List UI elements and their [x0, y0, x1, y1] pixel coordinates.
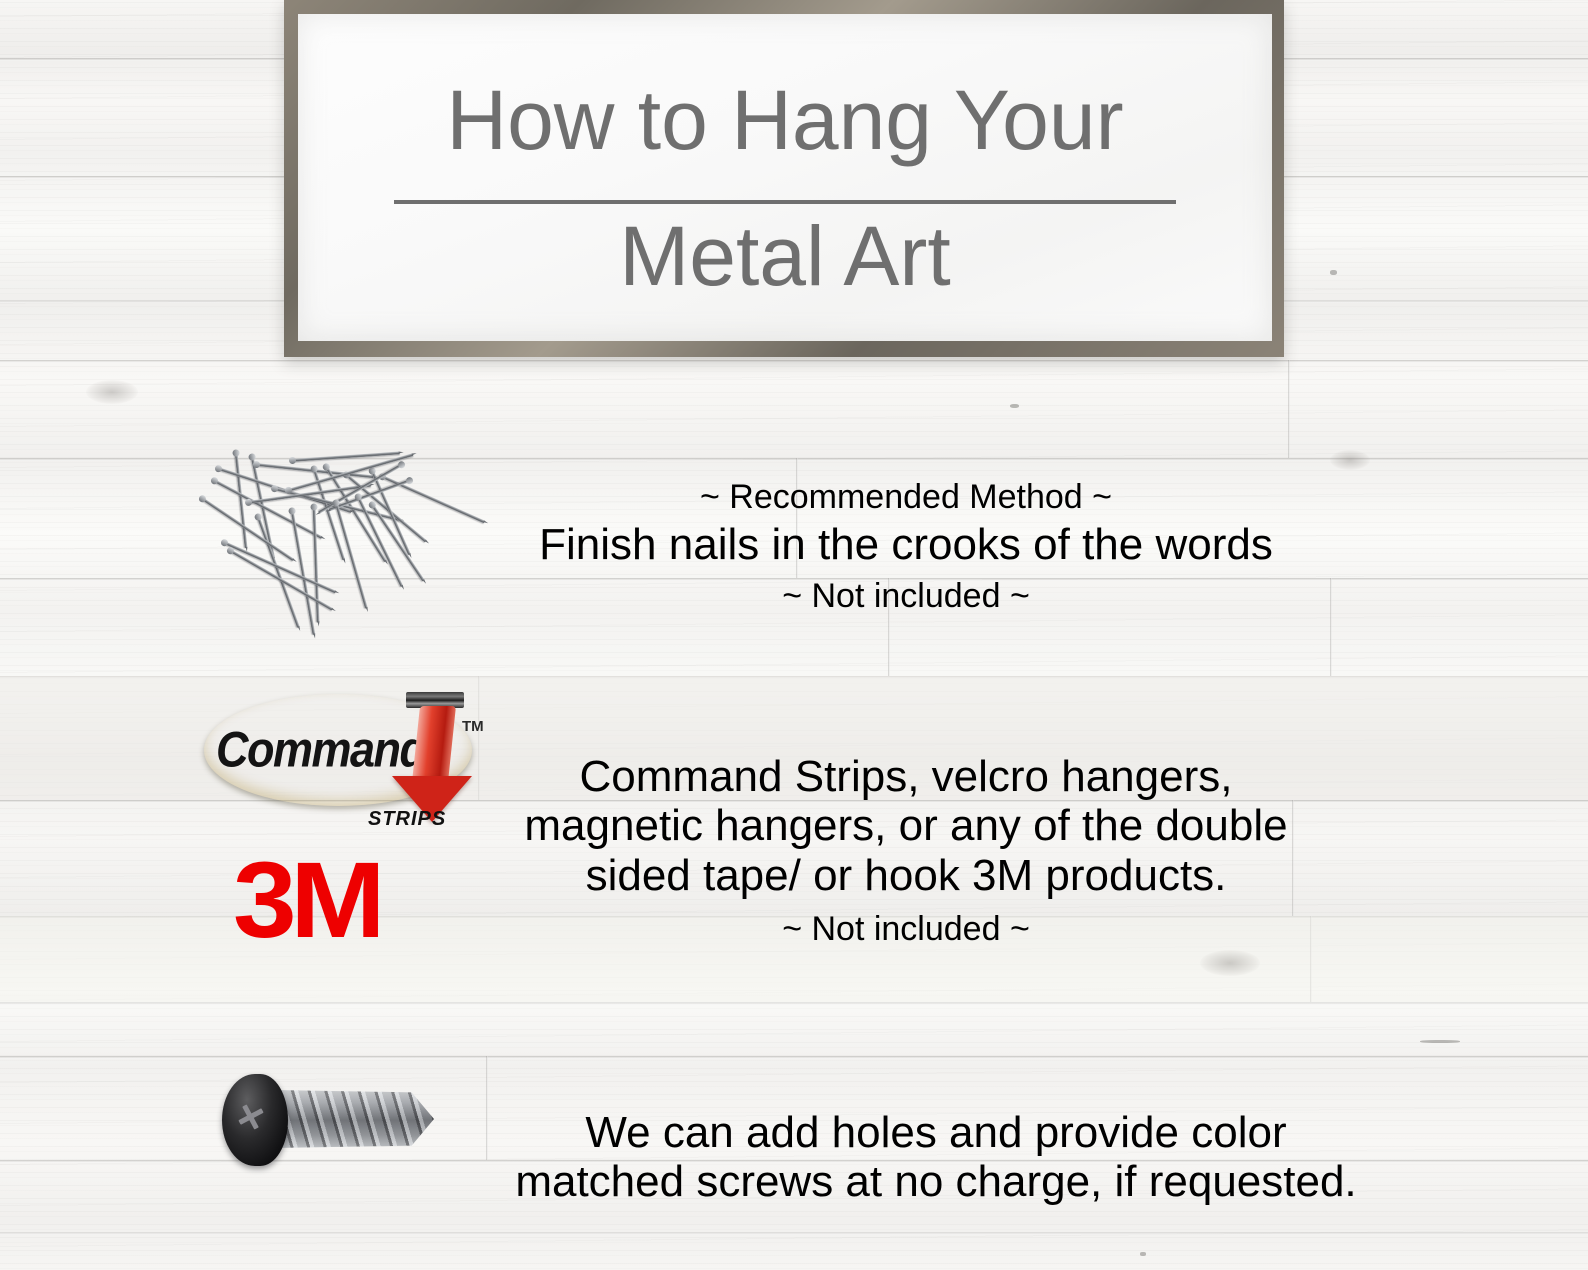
adhesive-text-block: Command Strips, velcro hangers, magnetic… [376, 752, 1436, 948]
adhesive-note: ~ Not included ~ [376, 910, 1436, 948]
plank-seam [0, 1056, 1588, 1059]
adhesive-body-line-1: Command Strips, velcro hangers, [376, 752, 1436, 801]
screws-body-line-1: We can add holes and provide color [376, 1108, 1496, 1157]
poster-root: How to Hang Your Metal Art ~ Recomme [0, 0, 1588, 1270]
title-sign-frame: How to Hang Your Metal Art [284, 0, 1284, 357]
adhesive-body-line-3: sided tape/ or hook 3M products. [376, 851, 1436, 900]
page-title-line-1: How to Hang Your [298, 78, 1272, 162]
nails-text-block: ~ Recommended Method ~ Finish nails in t… [376, 478, 1436, 615]
page-title-line-2: Metal Art [298, 214, 1272, 298]
screws-text-block: We can add holes and provide color match… [376, 1108, 1496, 1207]
three-m-logo: 3M [233, 846, 379, 954]
board-break [1288, 360, 1290, 458]
title-divider-rule [394, 200, 1176, 204]
wood-speck [1330, 270, 1337, 275]
wood-knot [1330, 450, 1370, 470]
screws-body-line-2: matched screws at no charge, if requeste… [376, 1157, 1496, 1206]
wood-knot [1200, 950, 1260, 976]
plank-seam [0, 360, 1588, 363]
plank-seam [0, 1002, 1588, 1005]
plank-seam [0, 1232, 1588, 1235]
wood-knot [86, 380, 138, 404]
title-sign-face: How to Hang Your Metal Art [298, 14, 1272, 341]
nails-heading: ~ Recommended Method ~ [376, 478, 1436, 516]
wood-speck [1140, 1252, 1146, 1256]
trademark-symbol: TM [462, 718, 484, 735]
nails-note: ~ Not included ~ [376, 577, 1436, 615]
wood-speck [1420, 1040, 1460, 1043]
nails-body: Finish nails in the crooks of the words [376, 520, 1436, 569]
wood-speck [1010, 404, 1019, 408]
adhesive-body-line-2: magnetic hangers, or any of the double [376, 801, 1436, 850]
